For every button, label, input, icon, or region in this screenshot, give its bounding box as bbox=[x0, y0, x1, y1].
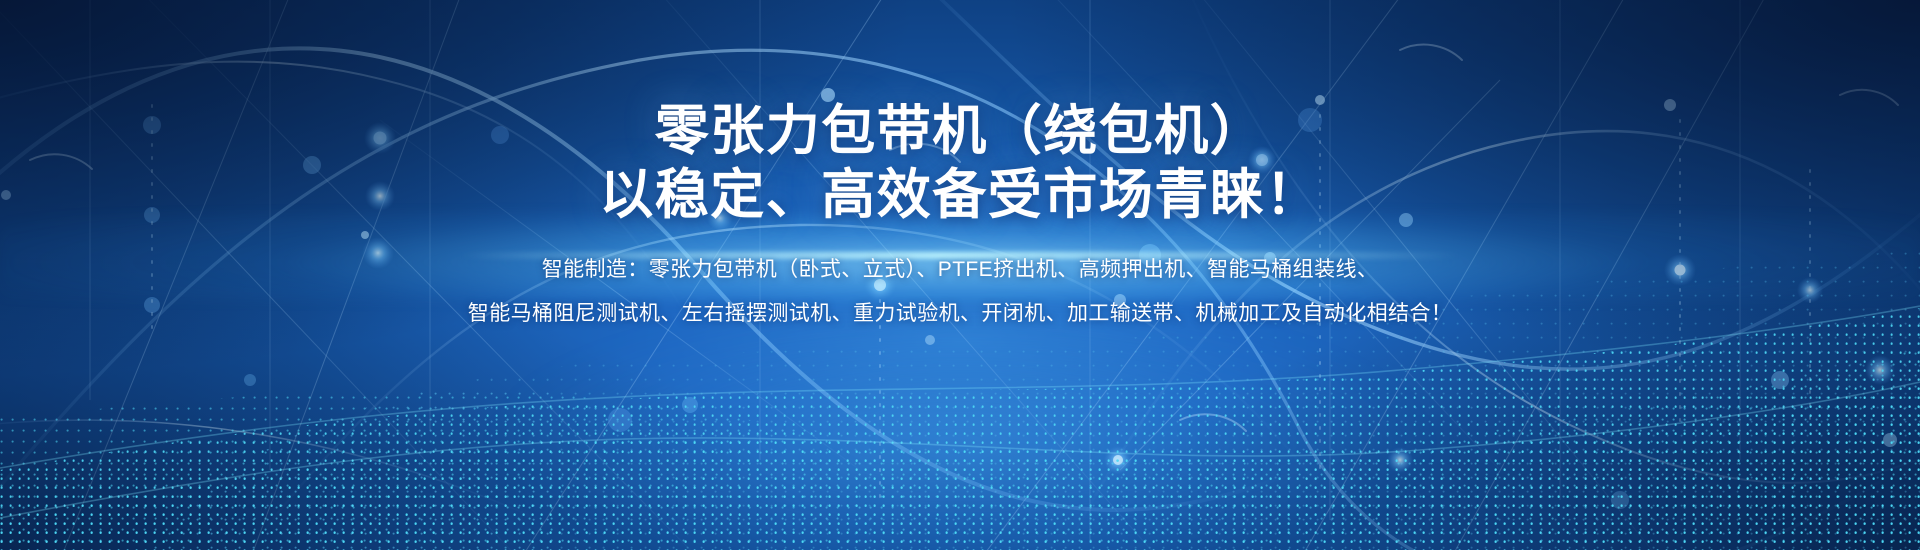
headline-line-1: 零张力包带机（绕包机） bbox=[599, 99, 1321, 163]
headline-line-2: 以稳定、高效备受市场青睐！ bbox=[599, 163, 1321, 227]
subtitle-line-1: 智能制造：零张力包带机（卧式、立式）、PTFE挤出机、高频押出机、智能马桶组装线… bbox=[468, 248, 1452, 292]
promo-banner: 零张力包带机（绕包机） 以稳定、高效备受市场青睐！ 智能制造：零张力包带机（卧式… bbox=[0, 0, 1920, 550]
headline: 零张力包带机（绕包机） 以稳定、高效备受市场青睐！ bbox=[599, 99, 1321, 227]
banner-content: 零张力包带机（绕包机） 以稳定、高效备受市场青睐！ 智能制造：零张力包带机（卧式… bbox=[0, 0, 1920, 550]
subtitle-line-2: 智能马桶阻尼测试机、左右摇摆测试机、重力试验机、开闭机、加工输送带、机械加工及自… bbox=[468, 292, 1452, 336]
subtitle: 智能制造：零张力包带机（卧式、立式）、PTFE挤出机、高频押出机、智能马桶组装线… bbox=[468, 248, 1452, 336]
